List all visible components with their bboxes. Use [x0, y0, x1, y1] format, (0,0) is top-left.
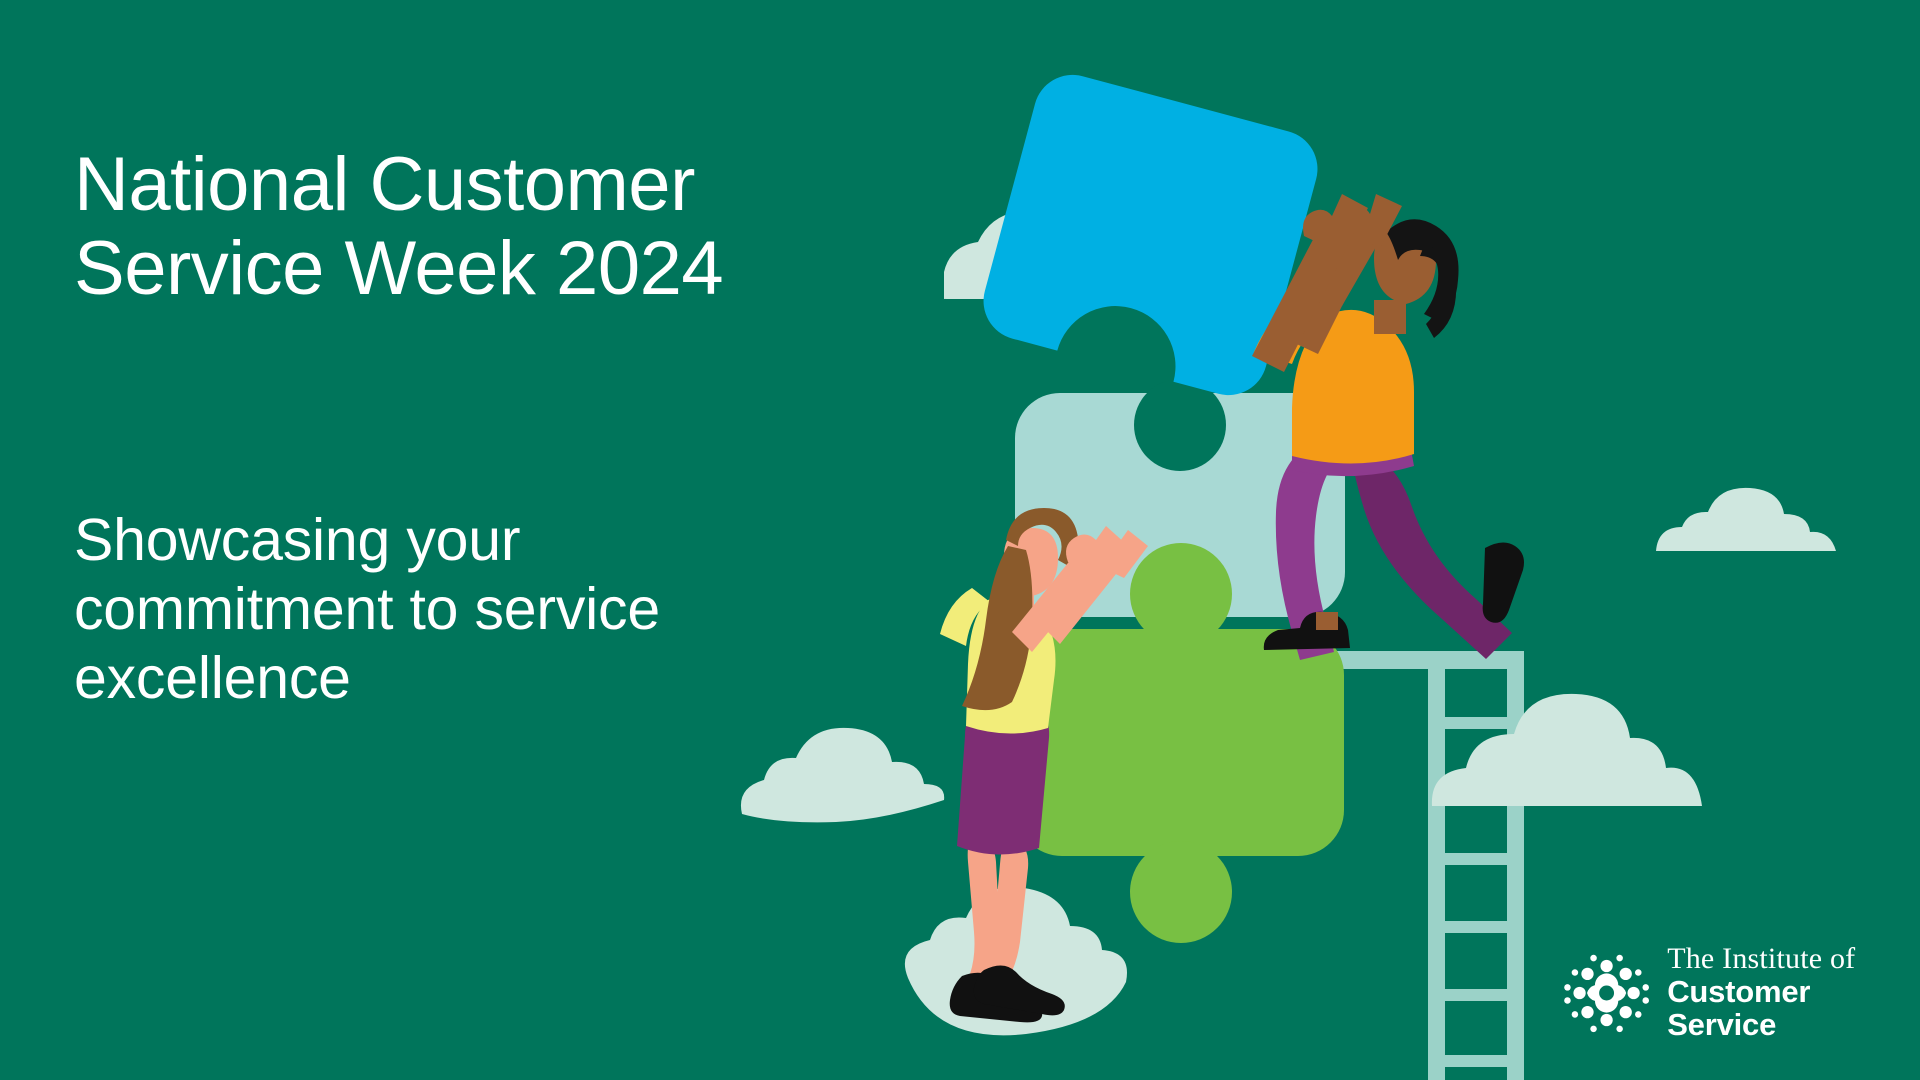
dot-flower-icon	[1560, 945, 1653, 1041]
man-neck	[1374, 300, 1406, 334]
logo-line-the-institute-of: The Institute of	[1667, 944, 1920, 975]
logo-line-customer-service: Customer Service	[1667, 975, 1920, 1042]
illustration-artwork	[0, 0, 1920, 1080]
national-customer-service-week-banner: National Customer Service Week 2024 Show…	[0, 0, 1920, 1080]
institute-of-customer-service-logo: The Institute of Customer Service	[1560, 944, 1920, 1042]
woman-skirt	[957, 722, 1049, 855]
logo-wordmark: The Institute of Customer Service	[1667, 944, 1920, 1042]
